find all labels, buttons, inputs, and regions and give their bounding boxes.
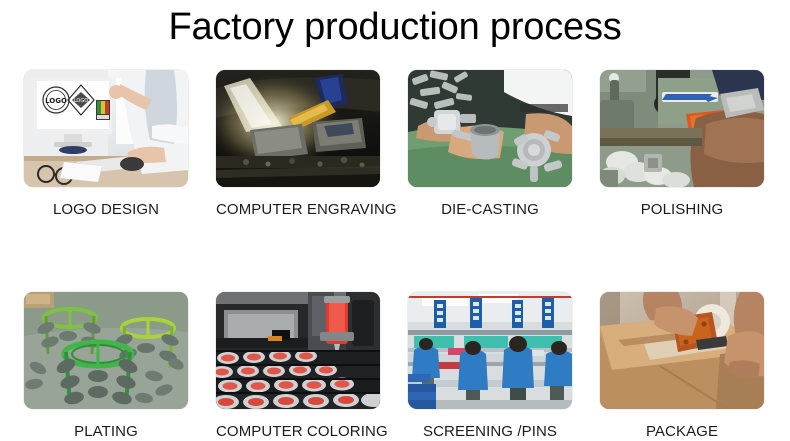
process-step-die-casting[interactable]: DIE-CASTING [408,70,572,219]
process-step-label: DIE-CASTING [408,201,572,219]
logo-design-photo[interactable]: LOGO LOGO [24,70,188,187]
process-step-label: COMPUTER COLORING [216,423,380,441]
process-step-label: PLATING [24,423,188,441]
package-photo[interactable] [600,292,764,409]
polishing-photo[interactable] [600,70,764,187]
computer-coloring-photo[interactable] [216,292,380,409]
screening-pins-photo[interactable] [408,292,572,409]
process-grid: LOGO LOGO [0,70,790,441]
process-step-logo-design[interactable]: LOGO LOGO [24,70,188,219]
process-row-1: LOGO LOGO [0,70,790,219]
svg-text:LOGO: LOGO [74,98,88,104]
process-step-label: PACKAGE [600,423,764,441]
factory-process-page: Factory production process [0,0,790,419]
process-step-label: SCREENING /PINS [408,423,572,441]
process-step-label: POLISHING [600,201,764,219]
process-step-computer-engraving[interactable]: COMPUTER ENGRAVING [216,70,380,219]
svg-text:LOGO: LOGO [45,97,67,105]
computer-engraving-photo[interactable] [216,70,380,187]
plating-photo[interactable] [24,292,188,409]
die-casting-photo[interactable] [408,70,572,187]
process-step-polishing[interactable]: POLISHING [600,70,764,219]
page-title: Factory production process [0,0,790,54]
process-step-label: LOGO DESIGN [24,201,188,219]
process-step-label: COMPUTER ENGRAVING [216,201,380,219]
